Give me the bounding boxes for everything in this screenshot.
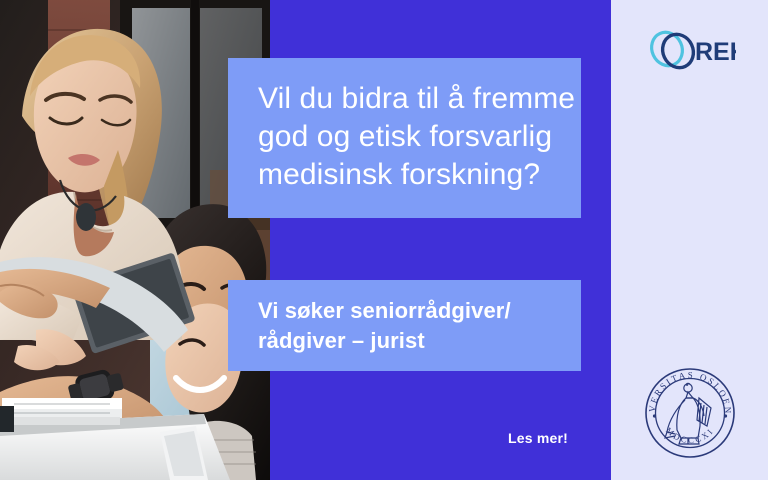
rek-logo[interactable]: REK [648,27,736,73]
job-advert-banner: Vil du bidra til å fremme god og etisk f… [0,0,768,480]
headline-box: Vil du bidra til å fremme god og etisk f… [228,58,581,218]
read-more-link[interactable]: Les mer! [508,430,568,446]
subheadline-line-1: Vi søker seniorrådgiver/ [258,296,561,326]
seal-top-text: UNIVERSITAS OSLOENSIS [641,364,733,416]
uio-seal: UNIVERSITAS OSLOENSIS MDCCCXI [641,364,739,462]
subheadline-line-2: rådgiver – jurist [258,326,561,356]
headline-line-1: Vil du bidra til å fremme [258,80,553,118]
headline-line-3: medisinsk forskning? [258,156,553,194]
rek-wordmark: REK [695,38,736,66]
university-of-oslo-seal-icon: UNIVERSITAS OSLOENSIS MDCCCXI [641,364,739,462]
subheadline-box: Vi søker seniorrådgiver/ rådgiver – juri… [228,280,581,371]
headline-line-2: god og etisk forsvarlig [258,118,553,156]
rek-interlocking-rings-icon: REK [648,27,736,73]
